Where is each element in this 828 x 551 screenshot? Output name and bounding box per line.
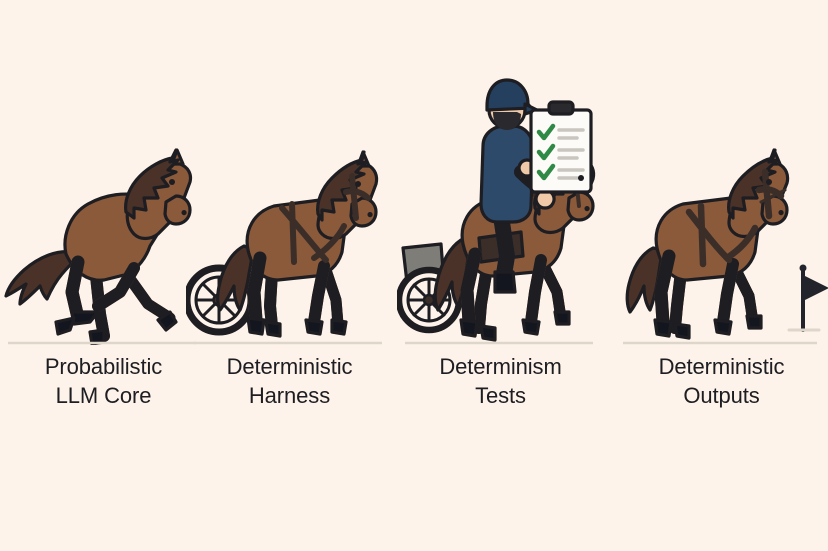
caption-line-2: LLM Core: [0, 381, 207, 410]
caption-line-1: Probabilistic: [45, 354, 162, 379]
panel-caption: Deterministic Harness: [186, 352, 393, 410]
panel-caption: Probabilistic LLM Core: [0, 352, 207, 410]
panel-caption: Deterministic Outputs: [615, 352, 828, 410]
rider-with-checklist-clipboard-icon: [397, 0, 604, 345]
caption-line-2: Harness: [186, 381, 393, 410]
caption-line-2: Outputs: [615, 381, 828, 410]
caption-line-2: Tests: [397, 381, 604, 410]
galloping-horse-icon: [0, 0, 207, 345]
panel-caption: Determinism Tests: [397, 352, 604, 410]
harnessed-horse-with-goal-flag-icon: [615, 0, 828, 345]
panel-deterministic-outputs: Deterministic Outputs: [615, 0, 828, 420]
illustration-canvas: Probabilistic LLM Core: [0, 0, 828, 551]
harnessed-horse-with-cart-icon: [186, 0, 393, 345]
panel-deterministic-harness: Deterministic Harness: [186, 0, 393, 420]
panel-determinism-tests: Determinism Tests: [397, 0, 604, 420]
caption-line-1: Deterministic: [659, 354, 785, 379]
goal-flag-icon: [789, 265, 828, 331]
caption-line-1: Determinism: [439, 354, 561, 379]
panel-probabilistic-llm-core: Probabilistic LLM Core: [0, 0, 207, 420]
caption-line-1: Deterministic: [227, 354, 353, 379]
